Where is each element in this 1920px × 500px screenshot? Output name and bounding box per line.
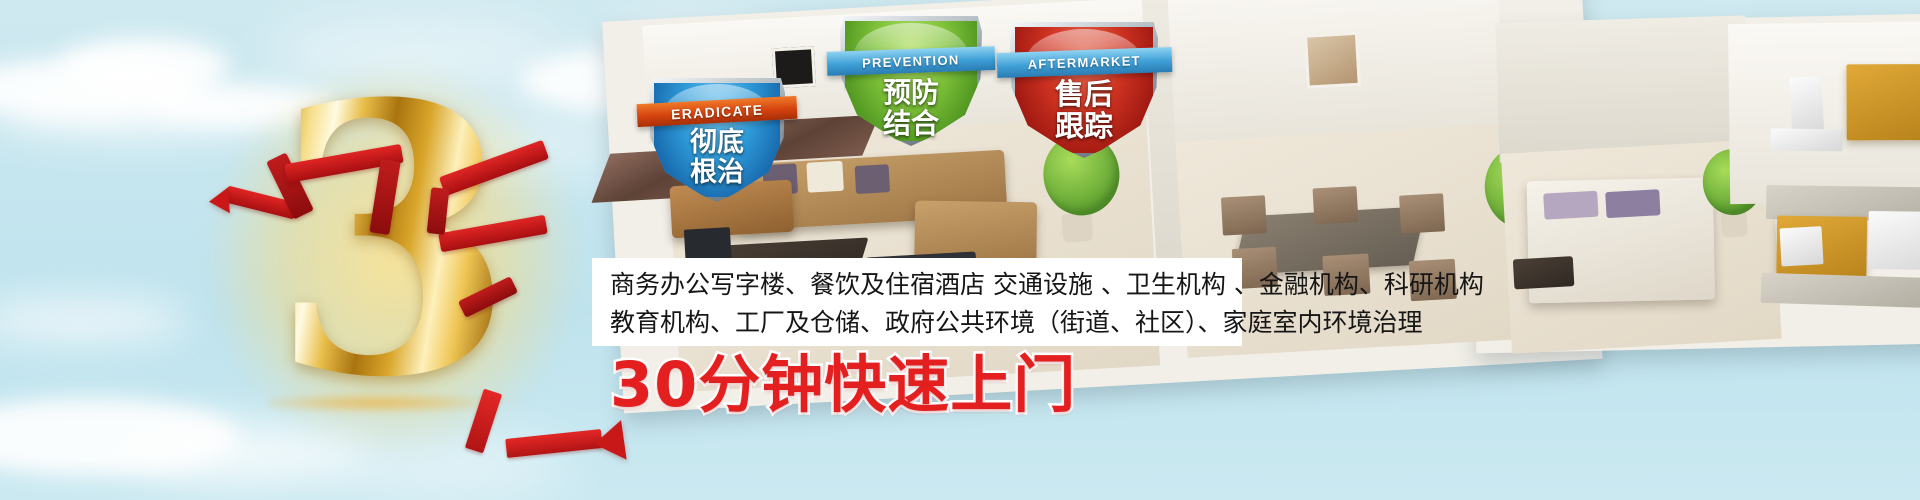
shield-aftermarket-english: AFTERMARKET xyxy=(1027,53,1141,72)
service-scope-panel: 商务办公写字楼、餐饮及住宿酒店 交通设施 、卫生机构 、金融机构、科研机构 教育… xyxy=(592,258,1242,346)
shield-eradicate-english: ERADICATE xyxy=(670,101,763,122)
shield-prevention-cn-line2: 结合 xyxy=(840,109,982,139)
shield-aftermarket: AFTERMARKET 售后 跟踪 xyxy=(1010,22,1158,158)
headline-30min-fast-service: 30分钟快速上门 xyxy=(610,352,1076,418)
shield-aftermarket-cn-line2: 跟踪 xyxy=(1010,112,1158,143)
ribbon-tip-icon xyxy=(208,187,230,214)
service-scope-line-2: 教育机构、工厂及仓储、政府公共环境（街道、社区）、家庭室内环境治理 xyxy=(610,304,1228,342)
service-scope-line-1: 商务办公写字楼、餐饮及住宿酒店 交通设施 、卫生机构 、金融机构、科研机构 xyxy=(610,266,1228,304)
shield-eradicate-cn-line1: 彻底 xyxy=(649,128,785,157)
shield-prevention: PREVENTION 预防 结合 xyxy=(840,16,982,146)
shield-eradicate-cn-line2: 根治 xyxy=(649,158,785,187)
promo-banner: 3 ERADICATE 彻底 根治 PREVENTI xyxy=(0,0,1920,500)
shield-prevention-cn-line1: 预防 xyxy=(840,78,982,108)
shield-eradicate: ERADICATE 彻底 根治 xyxy=(649,78,785,202)
shield-aftermarket-cn-line1: 售后 xyxy=(1010,80,1158,111)
shield-prevention-english: PREVENTION xyxy=(862,52,960,70)
